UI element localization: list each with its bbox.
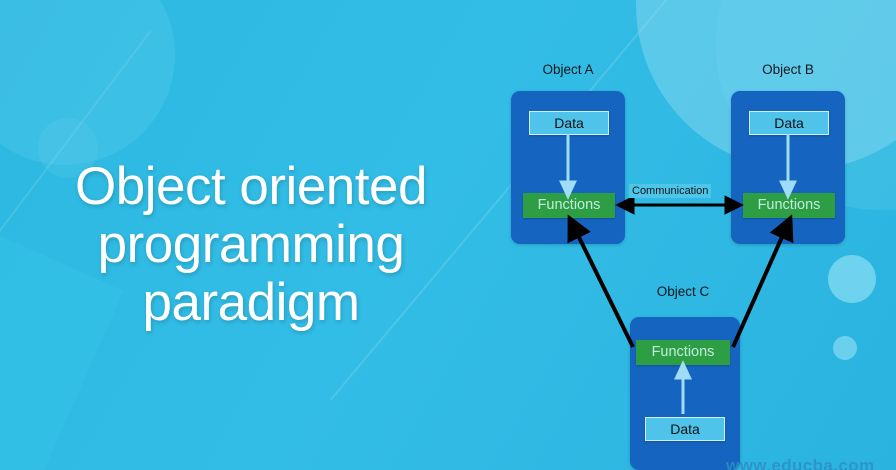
slide-canvas: Object oriented programming paradigm Obj…: [0, 0, 896, 470]
object-a-title: Object A: [511, 62, 625, 77]
communication-label: Communication: [629, 184, 711, 198]
object-c-title: Object C: [626, 284, 740, 299]
watermark: www.educba.com: [726, 456, 875, 470]
object-a-data-chip: Data: [529, 111, 609, 135]
object-a-functions-chip: Functions: [523, 193, 615, 218]
object-b-title: Object B: [731, 62, 845, 77]
object-b-data-chip: Data: [749, 111, 829, 135]
object-c-functions-chip: Functions: [636, 340, 730, 365]
oop-diagram: Object A Data Functions Object B Data Fu…: [0, 0, 896, 470]
object-b-functions-chip: Functions: [743, 193, 835, 218]
object-c-data-chip: Data: [645, 417, 725, 441]
